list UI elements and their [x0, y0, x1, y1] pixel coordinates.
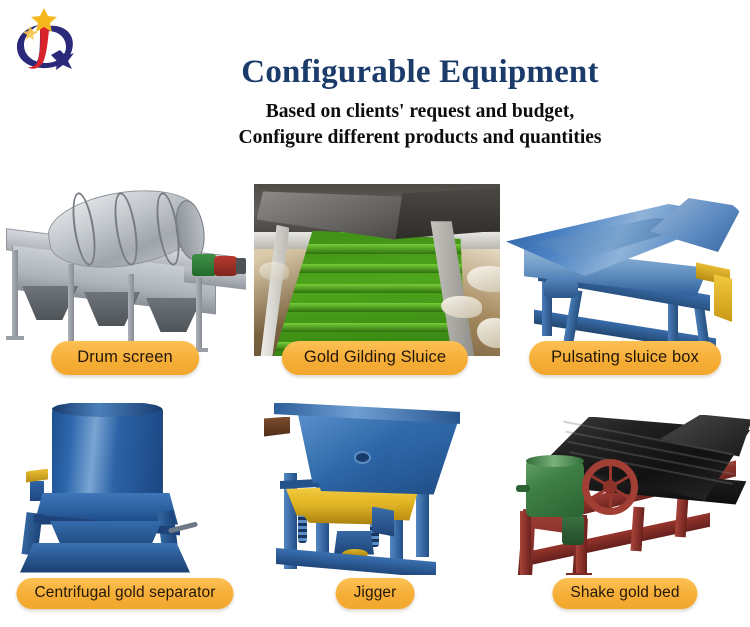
product-label-jigger[interactable]: Jigger — [336, 578, 415, 609]
subtitle-line-1: Based on clients' request and budget, — [110, 99, 730, 125]
product-card-shake-gold-bed[interactable]: Shake gold bed — [500, 403, 750, 627]
product-card-pulsating-sluice-box[interactable]: Pulsating sluice box — [500, 178, 750, 403]
page-subtitle: Based on clients' request and budget, Co… — [110, 99, 730, 151]
product-card-centrifugal-gold-separator[interactable]: Centrifugal gold separator — [0, 403, 250, 627]
product-label-centrifugal-gold-separator[interactable]: Centrifugal gold separator — [17, 578, 234, 609]
drum-screen-photo — [0, 178, 250, 356]
product-grid: Drum screen — [0, 178, 750, 627]
shake-gold-bed-photo — [500, 403, 750, 575]
product-label-shake-gold-bed[interactable]: Shake gold bed — [552, 578, 697, 609]
pulsating-sluice-box-photo — [500, 178, 750, 356]
subtitle-line-2: Configure different products and quantit… — [110, 125, 730, 151]
jigger-photo — [250, 403, 500, 575]
product-card-jigger[interactable]: Jigger — [250, 403, 500, 627]
product-card-gold-gilding-sluice[interactable]: Gold Gilding Sluice — [250, 178, 500, 403]
centrifugal-gold-separator-photo — [0, 403, 250, 575]
page-title: Configurable Equipment — [110, 52, 730, 92]
product-label-pulsating-sluice-box[interactable]: Pulsating sluice box — [529, 341, 721, 375]
product-label-drum-screen[interactable]: Drum screen — [51, 341, 199, 375]
jq-star-logo-icon — [8, 6, 82, 82]
product-card-drum-screen[interactable]: Drum screen — [0, 178, 250, 403]
header-block: Configurable Equipment Based on clients'… — [110, 52, 730, 151]
product-label-gold-gilding-sluice[interactable]: Gold Gilding Sluice — [282, 341, 468, 375]
gold-gilding-sluice-photo — [250, 178, 500, 356]
